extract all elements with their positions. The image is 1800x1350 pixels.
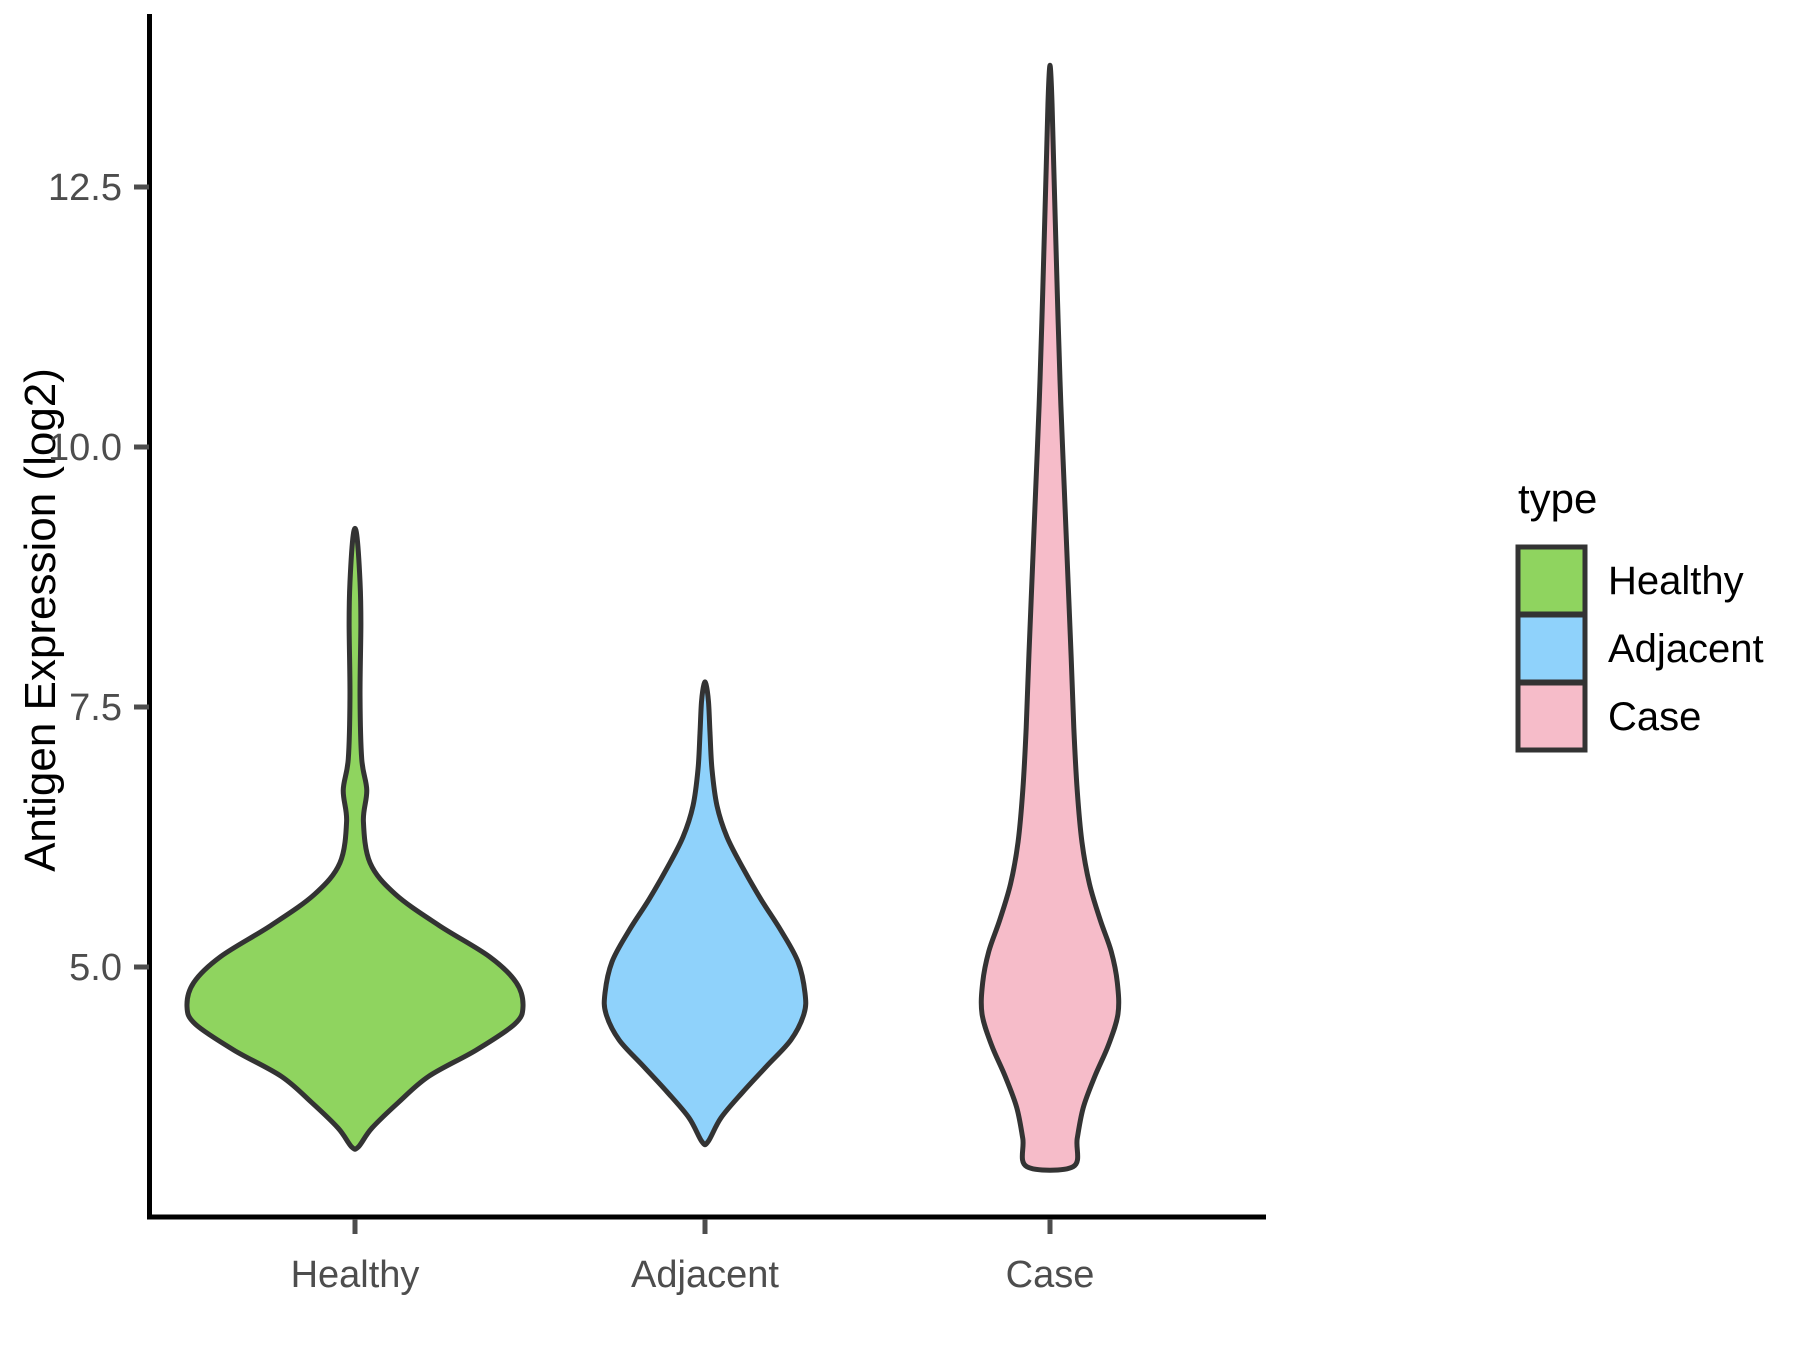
legend-key-adjacent[interactable] bbox=[1518, 615, 1585, 682]
violin-healthy bbox=[187, 528, 523, 1149]
legend-label-adjacent: Adjacent bbox=[1608, 627, 1764, 671]
violin-plot: Antigen Expression (log2) 12.510.07.55.0… bbox=[0, 0, 1800, 1350]
x-tick-label: Adjacent bbox=[631, 1254, 779, 1296]
chart-root: Antigen Expression (log2) 12.510.07.55.0… bbox=[0, 0, 1800, 1350]
violin-case bbox=[981, 65, 1118, 1170]
x-tick-label: Healthy bbox=[291, 1254, 420, 1296]
violin-shapes bbox=[187, 65, 1119, 1170]
violin-adjacent bbox=[604, 682, 806, 1145]
legend-key-healthy[interactable] bbox=[1518, 547, 1585, 614]
y-tick-label: 5.0 bbox=[69, 947, 122, 989]
y-tick-label: 12.5 bbox=[48, 167, 122, 209]
x-tick-label: Case bbox=[1006, 1254, 1095, 1296]
legend-key-case[interactable] bbox=[1518, 683, 1585, 750]
x-axis-ticks: HealthyAdjacentCase bbox=[291, 1219, 1095, 1296]
y-tick-label: 10.0 bbox=[48, 427, 122, 469]
legend-title: type bbox=[1518, 475, 1597, 522]
legend: type HealthyAdjacentCase bbox=[1518, 475, 1764, 750]
y-tick-label: 7.5 bbox=[69, 687, 122, 729]
legend-label-healthy: Healthy bbox=[1608, 559, 1744, 603]
legend-label-case: Case bbox=[1608, 695, 1701, 739]
